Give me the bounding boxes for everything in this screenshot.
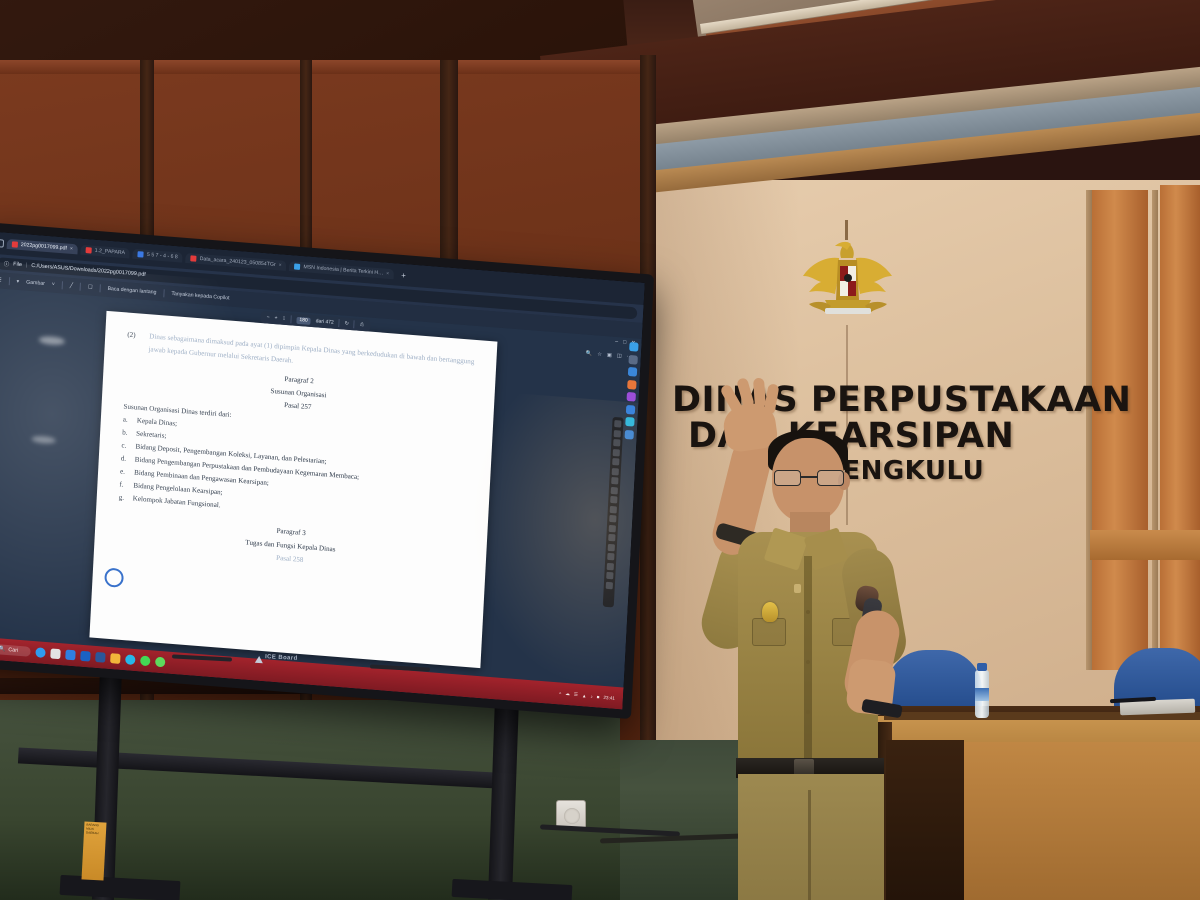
presenter-name-pin: [794, 584, 801, 593]
display-screen[interactable]: 2022pg0017099.pdf × 1.2_PAPARA 5 5 7 - 4…: [0, 232, 645, 710]
battery-icon[interactable]: ■: [597, 694, 600, 699]
browser-tab-4-label: MSN Indonesia | Berita Terkini H…: [303, 264, 383, 276]
doc-item-6-mark: g.: [118, 492, 124, 506]
pdf-divider-2: [339, 319, 340, 327]
edge2-icon[interactable]: [125, 654, 135, 665]
cloud-icon[interactable]: ☁: [565, 691, 570, 697]
mail-icon[interactable]: [65, 650, 75, 661]
system-tray: ^ ☁ ☰ ▲ ♪ ■ 23:41: [559, 690, 615, 700]
edge-browser-window: 2022pg0017099.pdf × 1.2_PAPARA 5 5 7 - 4…: [0, 232, 645, 710]
browser-tab-1-label: 1.2_PAPARA: [95, 248, 126, 256]
presenter-rank-badge: [762, 602, 778, 622]
browser-tab-4[interactable]: MSN Indonesia | Berita Terkini H… ×: [289, 261, 394, 279]
presenter-trouser-seam: [808, 790, 811, 900]
rail-tool-8-icon: [611, 486, 618, 494]
interactive-display-panel[interactable]: 2022pg0017099.pdf × 1.2_PAPARA 5 5 7 - 4…: [0, 222, 654, 719]
sidebar-toggle-icon[interactable]: ☰: [0, 277, 2, 283]
water-bottle-label: [975, 688, 989, 701]
rail-tool-17-icon: [606, 572, 613, 580]
folder-icon[interactable]: [110, 653, 120, 664]
doc-item-0-mark: a.: [123, 413, 129, 426]
doc-item-0-text: Kepala Dinas;: [137, 416, 178, 427]
chevron-down-icon[interactable]: ˅: [52, 281, 55, 287]
collections-icon[interactable]: ▣: [607, 352, 612, 358]
tray-clock[interactable]: 23:41: [603, 694, 615, 700]
table-front-panel: [960, 742, 1200, 900]
games-icon[interactable]: [627, 392, 636, 402]
pdf-page: (2) Dinas sebagaimana dimaksud pada ayat…: [89, 311, 497, 668]
doc-item-1-mark: b.: [122, 426, 128, 440]
rail-tool-4-icon: [613, 448, 620, 456]
drop-icon[interactable]: [625, 429, 634, 439]
erase-icon[interactable]: ╱: [70, 283, 73, 289]
doc-item-2-mark: c.: [121, 439, 127, 452]
network-icon[interactable]: ☰: [574, 692, 578, 698]
address-separator: |: [26, 262, 28, 268]
pdf-divider-1: [290, 315, 291, 323]
info-icon: ⓘ: [4, 260, 10, 268]
outlook-sidebar-icon[interactable]: [625, 417, 634, 427]
highlight-icon[interactable]: ☐: [88, 284, 93, 290]
file-explorer-icon[interactable]: [50, 648, 60, 659]
toolbar-divider-1: [8, 277, 9, 285]
volume-icon[interactable]: ♪: [590, 693, 593, 698]
toolbar-divider-5: [163, 289, 164, 297]
toolbar-divider-4: [99, 284, 100, 292]
toolbar-divider-2: [62, 281, 63, 289]
tab-favicon-pdf2-icon: [86, 247, 92, 253]
draw-icon[interactable]: ▾: [16, 279, 19, 285]
search-sidebar-icon[interactable]: [628, 354, 637, 364]
presenter-button-2: [806, 660, 810, 664]
outlook-icon[interactable]: [80, 651, 90, 662]
copilot-button[interactable]: Tanyakan kepada Copilot: [171, 291, 229, 302]
tab-close-icon-4[interactable]: ×: [386, 271, 389, 277]
tab-favicon-msn-icon: [294, 263, 300, 269]
read-aloud-button[interactable]: Baca dengan lantang: [107, 286, 156, 296]
rail-tool-12-icon: [609, 524, 616, 532]
presenter-pocket-left: [752, 618, 786, 646]
rail-tool-16-icon: [607, 562, 614, 570]
presenter-button-3: [806, 710, 810, 714]
presenter-trousers: [738, 774, 884, 900]
doc-item-1-text: Sekretaris;: [136, 429, 167, 439]
doc-item-3-mark: d.: [120, 452, 126, 466]
browser-tab-2[interactable]: 5 5 7 - 4 - 6 8: [133, 249, 183, 263]
address-scheme-label: File: [13, 261, 22, 268]
search-icon[interactable]: 🔍: [586, 351, 593, 357]
rail-tool-11-icon: [609, 515, 616, 523]
browser-essentials-icon[interactable]: [626, 404, 635, 414]
whatsapp-icon[interactable]: [140, 655, 150, 666]
wood-ledge: [1090, 530, 1200, 560]
page-total-label: dari 472: [316, 318, 334, 325]
tab-close-icon-3[interactable]: ×: [278, 262, 281, 268]
rail-tool-13-icon: [608, 534, 615, 542]
search-icon: 🔍: [0, 646, 6, 653]
split-screen-icon[interactable]: ◫: [617, 353, 622, 359]
pdf-divider-3: [354, 320, 355, 328]
room-scene: DINAS PERPUSTAKAAN DAN KEARSIPAN BENGKUL…: [0, 0, 1200, 900]
tools-icon[interactable]: [627, 379, 636, 389]
tab-favicon-pdf3-icon: [191, 255, 197, 261]
doc-item-4-mark: e.: [120, 465, 126, 478]
handwritten-annotation-circle: [104, 567, 124, 587]
rail-tool-6-icon: [612, 467, 619, 475]
minimize-icon[interactable]: –: [615, 339, 618, 345]
toolbar-divider-3: [80, 283, 81, 291]
browser-tab-1[interactable]: 1.2_PAPARA: [81, 245, 131, 259]
taskbar-search-label: Cari: [8, 647, 18, 654]
doc-paragraph-2-number: (2): [127, 329, 136, 343]
app-menu-icon[interactable]: [0, 239, 4, 248]
presenter-glasses: [774, 470, 844, 486]
maximize-icon[interactable]: □: [623, 339, 626, 345]
presenter-button-1: [806, 610, 810, 614]
doc-paragraph-2-text: Dinas sebagaimana dimaksud pada ayat (1)…: [148, 332, 474, 366]
zoom-out-button[interactable]: −: [266, 314, 269, 320]
word-icon[interactable]: [95, 652, 105, 663]
browser-tab-0[interactable]: 2022pg0017099.pdf ×: [7, 239, 78, 255]
wifi-icon[interactable]: ▲: [582, 693, 587, 698]
browser-tab-3-label: Data_acara_240123_050854TGr: [200, 256, 276, 268]
page-number-input[interactable]: 180: [296, 316, 311, 324]
rail-tool-9-icon: [610, 496, 617, 504]
rail-tool-5-icon: [612, 458, 619, 466]
rotate-button[interactable]: ↻: [345, 321, 350, 327]
garuda-pancasila-emblem: [795, 232, 900, 327]
rail-tool-18-icon: [606, 581, 613, 589]
tray-overflow-icon[interactable]: ^: [559, 691, 561, 696]
spotify-icon[interactable]: [155, 657, 165, 668]
doc-item-5-mark: f.: [119, 479, 124, 492]
water-bottle-cap: [977, 663, 987, 671]
browser-tab-2-label: 5 5 7 - 4 - 6 8: [147, 252, 178, 260]
rail-tool-10-icon: [610, 505, 617, 513]
print-button[interactable]: ⎙: [360, 322, 364, 328]
draw-button-label[interactable]: Gambar: [26, 279, 45, 286]
shopping-icon[interactable]: [628, 367, 637, 377]
fit-page-button[interactable]: ⌷: [282, 316, 285, 322]
tab-favicon-pdf-icon: [12, 241, 18, 247]
rail-tool-14-icon: [608, 543, 615, 551]
tab-close-icon-0[interactable]: ×: [70, 246, 73, 252]
tab-favicon-doc-icon: [138, 251, 144, 257]
browser-tab-0-label: 2022pg0017099.pdf: [21, 242, 67, 252]
rail-tool-1-icon: [614, 420, 621, 428]
taskbar-search[interactable]: 🔍 Cari: [0, 644, 30, 657]
rail-tool-7-icon: [611, 477, 618, 485]
presenter: [690, 360, 950, 900]
zoom-in-button[interactable]: +: [274, 315, 277, 321]
display-brand-logo-icon: [255, 656, 263, 663]
new-tab-button[interactable]: +: [397, 270, 410, 280]
wall-strip-1: [0, 60, 640, 74]
favorite-star-icon[interactable]: ☆: [597, 351, 602, 357]
copilot-icon[interactable]: [629, 342, 638, 352]
pdf-document-area[interactable]: (2) Dinas sebagaimana dimaksud pada ayat…: [0, 288, 642, 688]
browser-tab-3[interactable]: Data_acara_240123_050854TGr ×: [185, 253, 286, 271]
rail-tool-15-icon: [607, 553, 614, 561]
stand-sticker: BARANG MILIK DAERAH: [81, 821, 106, 880]
edge-icon[interactable]: [35, 647, 45, 658]
rail-tool-3-icon: [613, 439, 620, 447]
rail-tool-2-icon: [614, 430, 621, 438]
